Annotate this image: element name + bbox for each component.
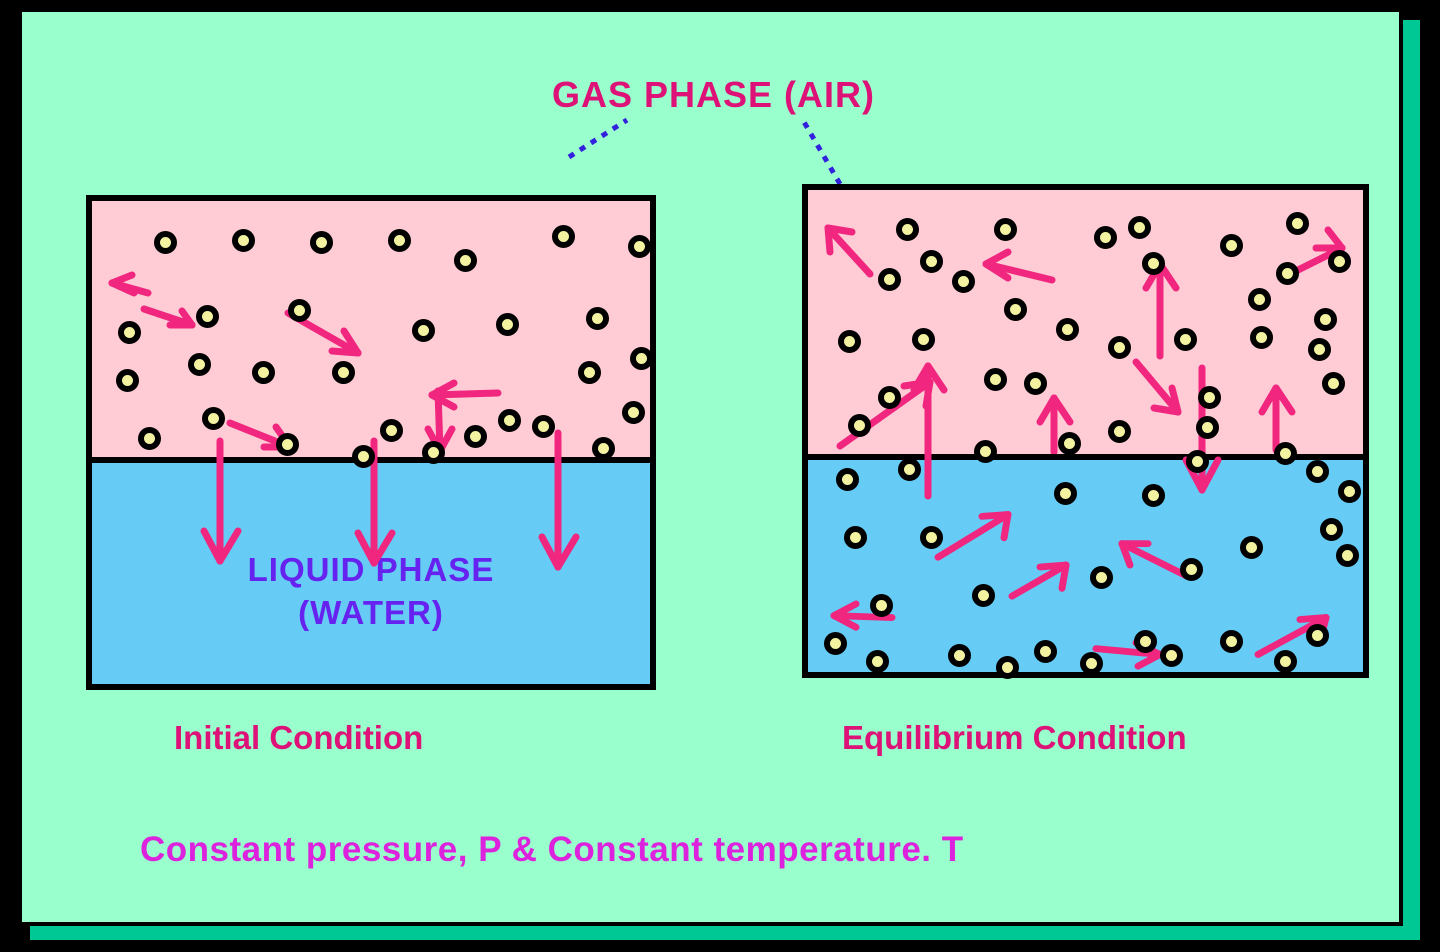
gas-molecule — [1220, 234, 1243, 257]
liquid-phase-label: LIQUID PHASE (WATER) — [92, 549, 650, 635]
caption-initial-condition: Initial Condition — [174, 719, 423, 757]
vessel-equilibrium-condition — [802, 184, 1369, 678]
liquid-region-equilibrium — [808, 454, 1363, 672]
gas-molecule — [912, 328, 935, 351]
gas-molecule — [288, 299, 311, 322]
gas-molecule — [1142, 252, 1165, 275]
gas-molecule — [1276, 262, 1299, 285]
gas-molecule — [896, 218, 919, 241]
gas-molecule — [878, 268, 901, 291]
gas-molecule — [848, 414, 871, 437]
constant-conditions-note: Constant pressure, P & Constant temperat… — [140, 830, 964, 870]
dissolved-molecule — [824, 632, 847, 655]
dissolved-molecule — [1220, 630, 1243, 653]
dissolved-molecule — [972, 584, 995, 607]
liquid-label-line-2: (WATER) — [92, 592, 650, 635]
vessel-initial-condition: LIQUID PHASE (WATER) — [86, 195, 656, 690]
gas-molecule — [1094, 226, 1117, 249]
gas-molecule — [984, 368, 1007, 391]
gas-molecule — [422, 441, 445, 464]
gas-molecule — [1328, 250, 1351, 273]
gas-molecule — [592, 437, 615, 460]
dissolved-molecule — [1186, 450, 1209, 473]
gas-molecule — [276, 433, 299, 456]
dissolved-molecule — [836, 468, 859, 491]
gas-molecule — [1196, 416, 1219, 439]
gas-molecule — [388, 229, 411, 252]
gas-molecule — [1108, 336, 1131, 359]
gas-molecule — [1286, 212, 1309, 235]
dissolved-molecule — [996, 656, 1019, 679]
dissolved-molecule — [1336, 544, 1359, 567]
dissolved-molecule — [1274, 650, 1297, 673]
dissolved-molecule — [898, 458, 921, 481]
liquid-arrows-equilibrium — [808, 460, 1363, 672]
gas-molecule — [994, 218, 1017, 241]
gas-molecule — [1322, 372, 1345, 395]
gas-molecule — [586, 307, 609, 330]
dissolved-molecule — [866, 650, 889, 673]
gas-molecule — [1128, 216, 1151, 239]
gas-region-equilibrium — [808, 190, 1363, 454]
dissolved-molecule — [1306, 460, 1329, 483]
gas-molecule — [498, 409, 521, 432]
gas-molecule — [532, 415, 555, 438]
gas-molecule — [252, 361, 275, 384]
gas-molecule — [352, 445, 375, 468]
dissolved-molecule — [948, 644, 971, 667]
gas-molecule — [154, 231, 177, 254]
gas-molecule — [578, 361, 601, 384]
gas-molecule — [202, 407, 225, 430]
gas-molecule — [464, 425, 487, 448]
gas-arrows-equilibrium — [808, 190, 1363, 454]
dissolved-molecule — [920, 526, 943, 549]
dissolved-molecule — [1142, 484, 1165, 507]
gas-molecule — [412, 319, 435, 342]
dissolved-molecule — [1080, 652, 1103, 675]
dissolved-molecule — [1180, 558, 1203, 581]
gas-molecule — [920, 250, 943, 273]
leader-line-initial — [569, 120, 627, 157]
gas-molecule — [1056, 318, 1079, 341]
gas-molecule — [974, 440, 997, 463]
dissolved-molecule — [1090, 566, 1113, 589]
gas-molecule — [496, 313, 519, 336]
gas-molecule — [838, 330, 861, 353]
dissolved-molecule — [1160, 644, 1183, 667]
gas-molecule — [454, 249, 477, 272]
dissolved-molecule — [1320, 518, 1343, 541]
gas-molecule — [552, 225, 575, 248]
gas-molecule — [1004, 298, 1027, 321]
gas-molecule — [622, 401, 645, 424]
gas-molecule — [118, 321, 141, 344]
caption-equilibrium-condition: Equilibrium Condition — [842, 719, 1187, 757]
gas-molecule — [332, 361, 355, 384]
gas-molecule — [1250, 326, 1273, 349]
gas-molecule — [1314, 308, 1337, 331]
gas-molecule — [232, 229, 255, 252]
gas-molecule — [878, 386, 901, 409]
liquid-label-line-1: LIQUID PHASE — [92, 549, 650, 592]
gas-molecule — [1024, 372, 1047, 395]
gas-molecule — [1274, 442, 1297, 465]
dissolved-molecule — [1338, 480, 1361, 503]
figure-root: GAS PHASE (AIR) — [0, 0, 1440, 952]
dissolved-molecule — [1306, 624, 1329, 647]
gas-molecule — [630, 347, 653, 370]
gas-molecule — [1174, 328, 1197, 351]
dissolved-molecule — [1054, 482, 1077, 505]
gas-molecule — [1198, 386, 1221, 409]
dissolved-molecule — [1240, 536, 1263, 559]
gas-molecule — [628, 235, 651, 258]
gas-molecule — [188, 353, 211, 376]
gas-molecule — [310, 231, 333, 254]
dissolved-molecule — [1134, 630, 1157, 653]
gas-molecule — [196, 305, 219, 328]
gas-molecule — [1058, 432, 1081, 455]
dissolved-molecule — [870, 594, 893, 617]
leader-line-equilibrium — [804, 122, 840, 184]
gas-molecule — [1308, 338, 1331, 361]
gas-molecule — [952, 270, 975, 293]
diagram-canvas: GAS PHASE (AIR) — [18, 8, 1403, 926]
gas-molecule — [380, 419, 403, 442]
gas-molecule — [138, 427, 161, 450]
gas-molecule — [1248, 288, 1271, 311]
gas-molecule — [1108, 420, 1131, 443]
dissolved-molecule — [1034, 640, 1057, 663]
liquid-region-initial: LIQUID PHASE (WATER) — [92, 457, 650, 684]
dissolved-molecule — [844, 526, 867, 549]
gas-molecule — [116, 369, 139, 392]
